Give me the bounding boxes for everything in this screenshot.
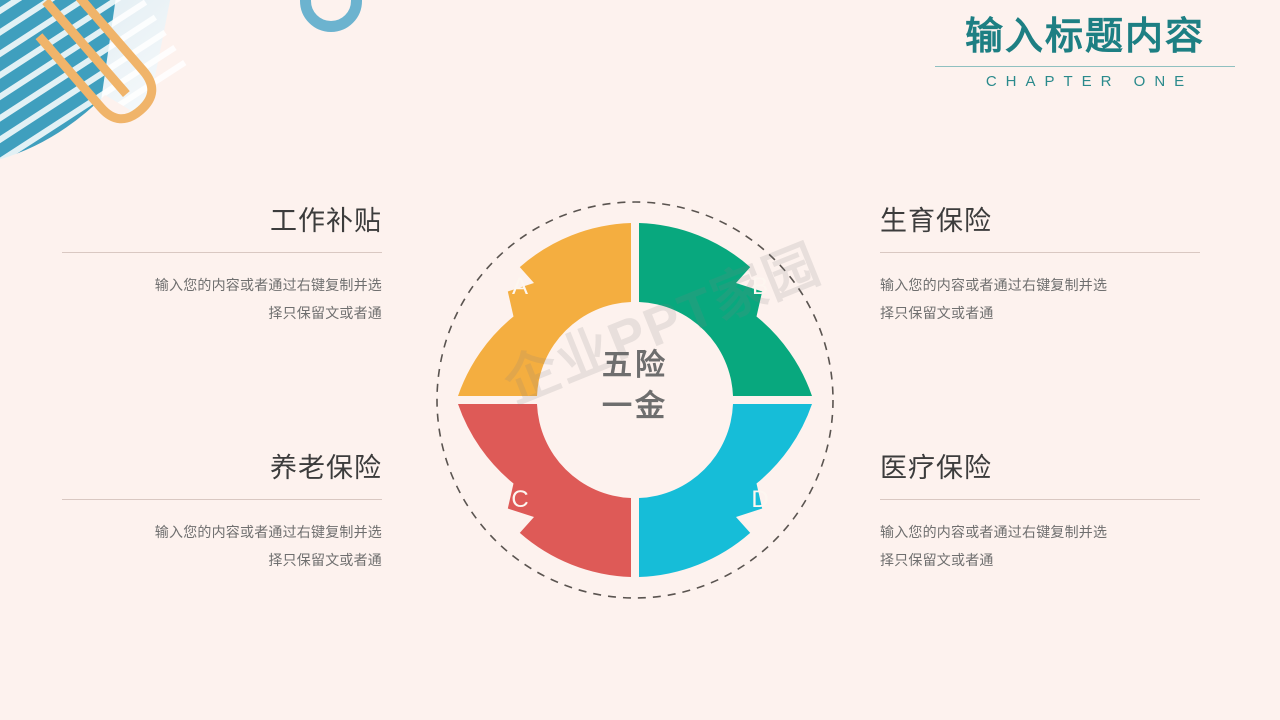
block-divider (880, 499, 1200, 500)
segment-label-d: D (740, 486, 780, 514)
document-corner-mask (0, 95, 130, 200)
segment-label-c: C (500, 486, 540, 514)
block-body-line: 输入您的内容或者通过右键复制并选 (880, 518, 1200, 546)
info-block-work-subsidy: 工作补贴 输入您的内容或者通过右键复制并选 择只保留文或者通 (62, 205, 382, 327)
decorative-circle (300, 0, 362, 32)
block-body: 输入您的内容或者通过右键复制并选 择只保留文或者通 (880, 518, 1200, 574)
block-body: 输入您的内容或者通过右键复制并选 择只保留文或者通 (62, 518, 382, 574)
info-block-pension-insurance: 养老保险 输入您的内容或者通过右键复制并选 择只保留文或者通 (62, 452, 382, 574)
block-body-line: 择只保留文或者通 (62, 546, 382, 574)
block-title: 养老保险 (62, 452, 382, 486)
segment-label-a: A (500, 273, 540, 301)
block-title: 医疗保险 (880, 452, 1200, 486)
block-body: 输入您的内容或者通过右键复制并选 择只保留文或者通 (62, 271, 382, 327)
document-sheet (0, 0, 178, 178)
document-stripes (0, 0, 186, 185)
block-title: 生育保险 (880, 205, 1200, 239)
block-divider (62, 252, 382, 253)
corner-decoration (0, 0, 260, 200)
info-block-medical-insurance: 医疗保险 输入您的内容或者通过右键复制并选 择只保留文或者通 (880, 452, 1200, 574)
center-label-line1: 五险 (545, 346, 725, 387)
chapter-subtitle: CHAPTER ONE (935, 73, 1235, 90)
donut-segment-d[interactable] (639, 404, 812, 577)
block-divider (62, 499, 382, 500)
block-body-line: 输入您的内容或者通过右键复制并选 (62, 271, 382, 299)
block-body-line: 择只保留文或者通 (880, 299, 1200, 327)
page-title: 输入标题内容 (935, 16, 1235, 60)
block-body-line: 择只保留文或者通 (62, 299, 382, 327)
donut-center-label: 五险 一金 (545, 346, 725, 427)
info-block-maternity-insurance: 生育保险 输入您的内容或者通过右键复制并选 择只保留文或者通 (880, 205, 1200, 327)
block-body: 输入您的内容或者通过右键复制并选 择只保留文或者通 (880, 271, 1200, 327)
paperclip-icon (27, 0, 161, 129)
header: 输入标题内容 CHAPTER ONE (935, 16, 1235, 90)
block-title: 工作补贴 (62, 205, 382, 239)
segment-label-b: B (740, 273, 780, 301)
block-body-line: 输入您的内容或者通过右键复制并选 (880, 271, 1200, 299)
donut-segment-c[interactable] (458, 404, 631, 577)
block-body-line: 输入您的内容或者通过右键复制并选 (62, 518, 382, 546)
block-divider (880, 252, 1200, 253)
block-body-line: 择只保留文或者通 (880, 546, 1200, 574)
corner-decoration-svg (0, 0, 260, 200)
center-label-line2: 一金 (545, 387, 725, 428)
header-divider (935, 66, 1235, 67)
